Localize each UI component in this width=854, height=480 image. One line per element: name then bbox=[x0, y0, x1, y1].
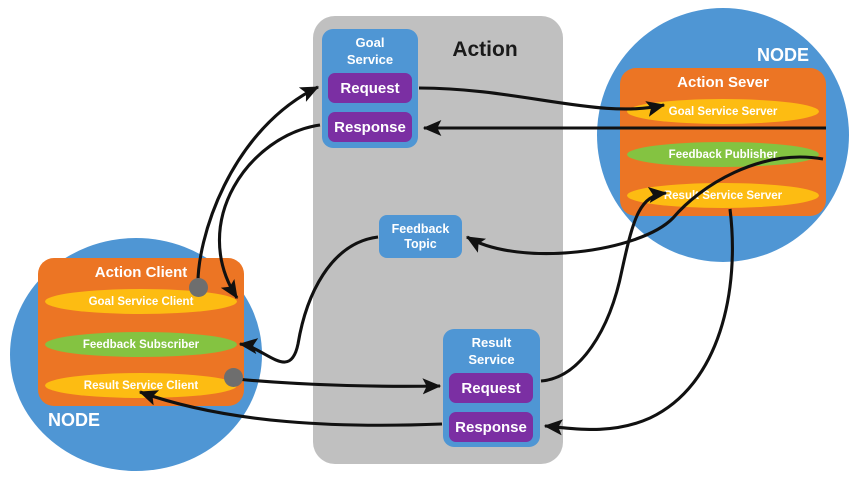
result-client-connector-dot bbox=[224, 368, 243, 387]
pill-feedback-subscriber[interactable]: Feedback Subscriber bbox=[45, 332, 237, 357]
result-service-request-chip[interactable]: Request bbox=[449, 373, 533, 403]
goal-service-title: Goal Service bbox=[322, 34, 418, 68]
feedback-topic-line1: Feedback bbox=[392, 222, 450, 237]
action-client-title: Action Client bbox=[38, 264, 244, 281]
goal-client-connector-dot bbox=[189, 278, 208, 297]
goal-service-request-chip[interactable]: Request bbox=[328, 73, 412, 103]
diagram-canvas: Action NODE NODE Action Client Goal Serv… bbox=[0, 0, 854, 480]
pill-goal-service-server[interactable]: Goal Service Server bbox=[627, 99, 819, 124]
feedback-topic-line2: Topic bbox=[404, 237, 436, 252]
goal-service-title-line2: Service bbox=[322, 51, 418, 68]
pill-goal-service-client[interactable]: Goal Service Client bbox=[45, 289, 237, 314]
pill-result-service-server[interactable]: Result Service Server bbox=[627, 183, 819, 208]
result-service-title: Result Service bbox=[443, 334, 540, 368]
pill-feedback-publisher[interactable]: Feedback Publisher bbox=[627, 142, 819, 167]
pill-result-service-client[interactable]: Result Service Client bbox=[45, 373, 237, 398]
result-service-box: Result Service Request Response bbox=[443, 329, 540, 447]
feedback-topic-box[interactable]: Feedback Topic bbox=[379, 215, 462, 258]
action-server-panel: Action Sever Goal Service Server Feedbac… bbox=[620, 68, 826, 216]
client-node-label: NODE bbox=[48, 410, 100, 431]
result-service-title-line1: Result bbox=[443, 334, 540, 351]
goal-service-box: Goal Service Request Response bbox=[322, 29, 418, 148]
result-service-title-line2: Service bbox=[443, 351, 540, 368]
goal-service-response-chip[interactable]: Response bbox=[328, 112, 412, 142]
server-node-label: NODE bbox=[757, 45, 809, 66]
action-client-panel: Action Client Goal Service Client Feedba… bbox=[38, 258, 244, 406]
result-service-response-chip[interactable]: Response bbox=[449, 412, 533, 442]
action-title: Action bbox=[420, 38, 550, 62]
goal-service-title-line1: Goal bbox=[322, 34, 418, 51]
action-server-title: Action Sever bbox=[620, 74, 826, 91]
